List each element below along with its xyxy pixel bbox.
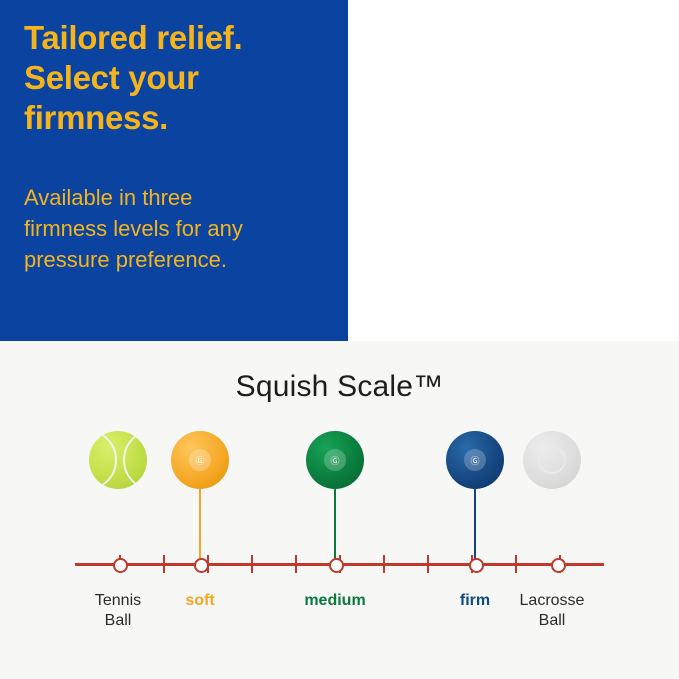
scale-label-line-2: Ball (63, 611, 173, 631)
subcopy-line-1: Available in three (24, 182, 324, 213)
scale-label-line-2: Ball (497, 611, 607, 631)
scale-node-firm[interactable] (469, 558, 484, 573)
axis-tick (295, 555, 297, 573)
scale-label-lacrosse-ball: Lacrosse Ball (497, 591, 607, 631)
tennis-seam-right (123, 431, 147, 489)
product-photo: 5" 2.5" (348, 0, 679, 341)
swatch-soft: Ⓖ (171, 431, 229, 489)
scale-node-medium[interactable] (329, 558, 344, 573)
top-panel: Tailored relief. Select your firmness. A… (0, 0, 679, 341)
axis-tick (383, 555, 385, 573)
subcopy-line-2: firmness levels for any (24, 213, 324, 244)
product-infographic: Tailored relief. Select your firmness. A… (0, 0, 679, 679)
swatch-firm-glyph: Ⓖ (464, 449, 486, 471)
scale-node-tennis-ball[interactable] (113, 558, 128, 573)
swatch-tennis-ball (89, 431, 147, 489)
scale-label-line-1: Lacrosse (497, 591, 607, 611)
headline-line-1: Tailored relief. (24, 18, 334, 58)
swatch-firm: Ⓖ (446, 431, 504, 489)
scale-label-line-1: medium (280, 591, 390, 611)
swatch-medium: Ⓖ (306, 431, 364, 489)
headline-line-2: Select your (24, 58, 334, 98)
scale-label-soft: soft (145, 591, 255, 611)
scale-stem-firm (474, 489, 476, 561)
subcopy: Available in three firmness levels for a… (24, 182, 324, 275)
lacrosse-ring (538, 446, 566, 474)
scale-label-line-1: soft (145, 591, 255, 611)
axis-tick (251, 555, 253, 573)
axis-tick (427, 555, 429, 573)
scale-label-medium: medium (280, 591, 390, 611)
scale-stem-medium (334, 489, 336, 561)
scale-title: Squish Scale™ (0, 370, 679, 404)
tennis-seam-left (89, 431, 117, 489)
subcopy-line-3: pressure preference. (24, 244, 324, 275)
scale-node-lacrosse-ball[interactable] (551, 558, 566, 573)
scale-node-soft[interactable] (194, 558, 209, 573)
axis-tick (515, 555, 517, 573)
scale-stem-soft (199, 489, 201, 561)
headline: Tailored relief. Select your firmness. (24, 18, 334, 138)
swatch-lacrosse-ball (523, 431, 581, 489)
swatch-medium-glyph: Ⓖ (324, 449, 346, 471)
axis-tick (163, 555, 165, 573)
swatch-soft-glyph: Ⓖ (189, 449, 211, 471)
squish-scale-panel: Squish Scale™ Tennis Ball Ⓖ (0, 341, 679, 679)
headline-line-3: firmness. (24, 98, 334, 138)
